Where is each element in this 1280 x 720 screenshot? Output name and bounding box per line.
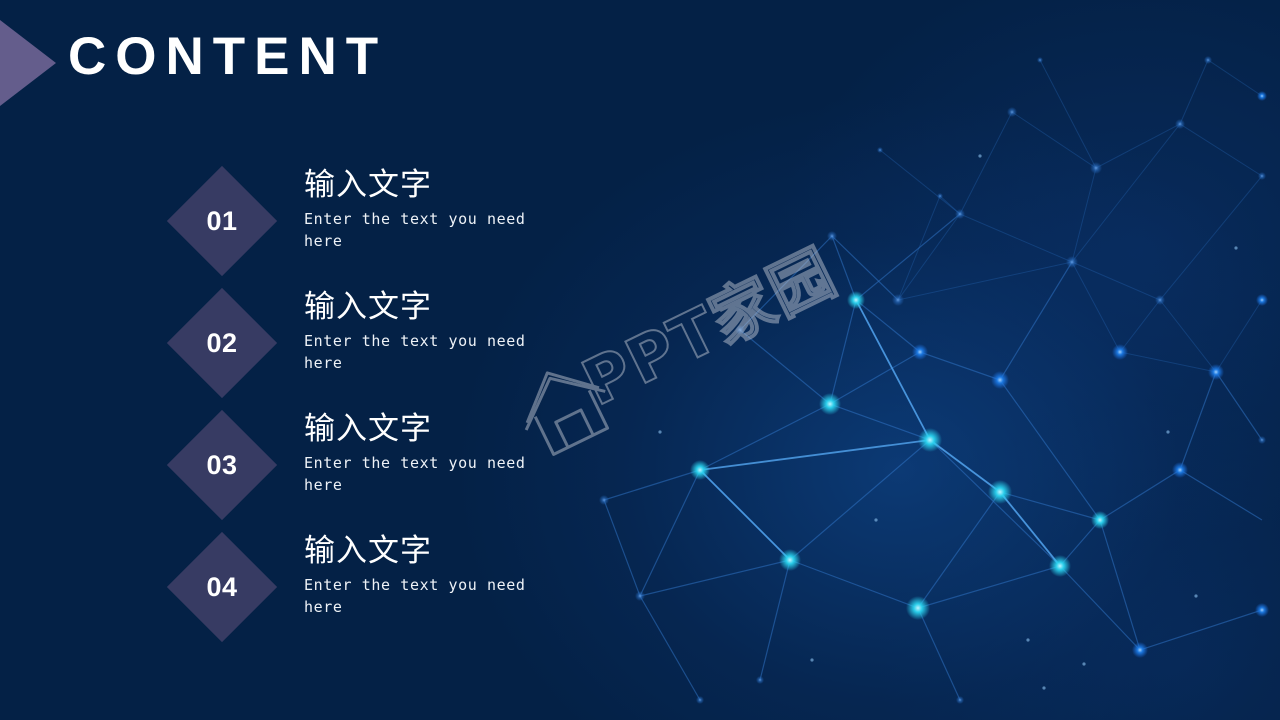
item-subtext: Enter the text you need here xyxy=(304,209,564,253)
item-heading: 输入文字 xyxy=(304,288,604,327)
item-heading: 输入文字 xyxy=(304,532,604,571)
triangle-right-icon xyxy=(0,20,56,106)
list-item[interactable]: 02 输入文字 Enter the text you need here xyxy=(180,288,600,398)
item-text-block: 输入文字 Enter the text you need here xyxy=(304,166,604,252)
item-subtext: Enter the text you need here xyxy=(304,575,564,619)
item-heading: 输入文字 xyxy=(304,410,604,449)
item-number: 03 xyxy=(183,426,261,504)
list-item[interactable]: 04 输入文字 Enter the text you need here xyxy=(180,532,600,642)
list-item[interactable]: 01 输入文字 Enter the text you need here xyxy=(180,166,600,276)
list-item[interactable]: 03 输入文字 Enter the text you need here xyxy=(180,410,600,520)
item-number: 04 xyxy=(183,548,261,626)
item-number: 02 xyxy=(183,304,261,382)
item-text-block: 输入文字 Enter the text you need here xyxy=(304,410,604,496)
item-subtext: Enter the text you need here xyxy=(304,331,564,375)
item-number: 01 xyxy=(183,182,261,260)
item-heading: 输入文字 xyxy=(304,166,604,205)
item-subtext: Enter the text you need here xyxy=(304,453,564,497)
item-text-block: 输入文字 Enter the text you need here xyxy=(304,288,604,374)
page-title: CONTENT xyxy=(68,28,387,86)
slide-canvas: CONTENT 01 输入文字 Enter the text you need … xyxy=(0,0,1280,720)
item-text-block: 输入文字 Enter the text you need here xyxy=(304,532,604,618)
